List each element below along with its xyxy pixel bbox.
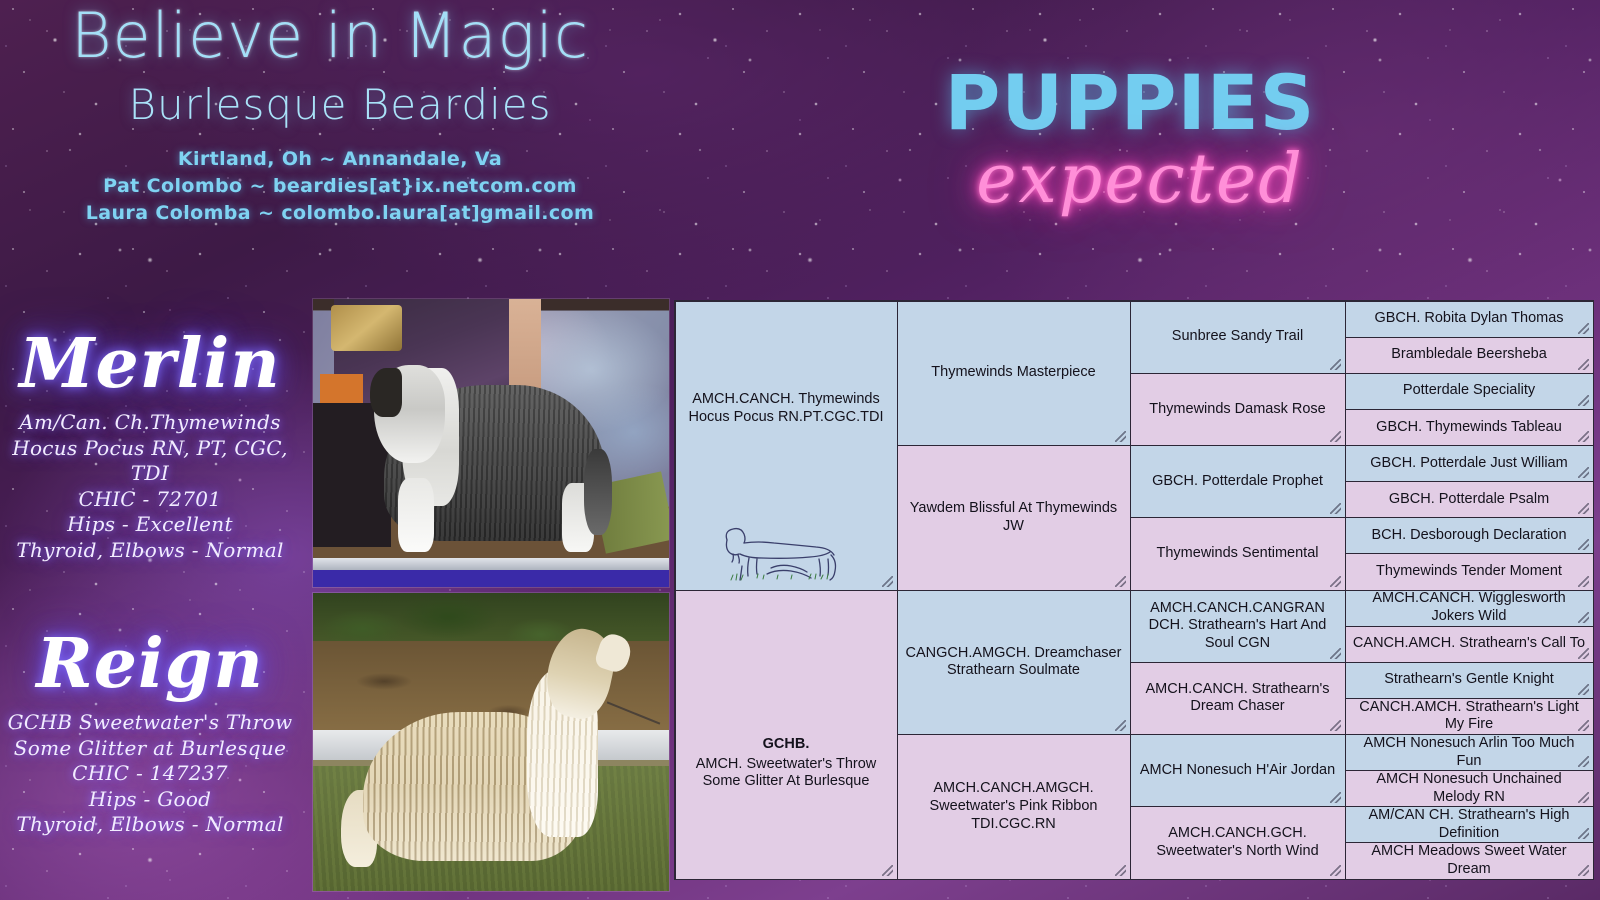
kennel-title: Believe in Magic xyxy=(0,4,660,68)
contact-laura-colomba[interactable]: Laura Colomba ~ colombo.laura[at]gmail.c… xyxy=(0,202,680,224)
show-table-edge xyxy=(313,558,669,570)
pedigree-cell[interactable]: AMCH.CANCH.CANGRAN DCH. Strathearn's Har… xyxy=(1130,590,1346,663)
pedigree-cell[interactable]: Brambledale Beersheba xyxy=(1345,337,1594,374)
pedigree-cell[interactable]: Thymewinds Tender Moment xyxy=(1345,553,1594,590)
pedigree-cell-text: GBCH. Robita Dylan Thomas xyxy=(1353,310,1586,328)
pedigree-generation-4: GBCH. Robita Dylan Thomas Brambledale Be… xyxy=(1345,301,1593,879)
dog-info-line: TDI xyxy=(0,461,300,487)
pedigree-cell-text: GBCH. Potterdale Prophet xyxy=(1138,473,1338,491)
pedigree-cell[interactable]: CANCH.AMCH. Strathearn's Light My Fire xyxy=(1345,698,1594,735)
contact-location: Kirtland, Oh ~ Annandale, Va xyxy=(0,148,680,170)
dog-info-line: Thyroid, Elbows - Normal xyxy=(0,538,300,564)
poster-canvas: Believe in Magic Burlesque Beardies Kirt… xyxy=(0,0,1600,900)
pedigree-cell[interactable]: GBCH. Thymewinds Tableau xyxy=(1345,409,1594,446)
pedigree-generation-2: Thymewinds Masterpiece Yawdem Blissful A… xyxy=(897,301,1130,879)
pedigree-cell-text: AMCH Nonesuch Unchained Melody RN xyxy=(1353,771,1586,806)
pedigree-cell-text: CANGCH.AMGCH. Dreamchaser Strathearn Sou… xyxy=(905,645,1123,680)
pedigree-cell[interactable]: AMCH.CANCH. Strathearn's Dream Chaser xyxy=(1130,662,1346,735)
pedigree-cell-dam[interactable]: GCHB. AMCH. Sweetwater's Throw Some Glit… xyxy=(675,590,898,880)
rosette-decoration xyxy=(331,305,402,351)
pedigree-cell-text: AM/CAN CH. Strathearn's High Definition xyxy=(1353,807,1586,842)
pedigree-cell-text: Potterdale Speciality xyxy=(1353,382,1586,400)
pedigree-cell[interactable]: AMCH.CANCH.GCH. Sweetwater's North Wind xyxy=(1130,806,1346,879)
pedigree-cell[interactable]: CANCH.AMCH. Strathearn's Call To xyxy=(1345,626,1594,663)
pedigree-cell-text: AMCH.CANCH.GCH. Sweetwater's North Wind xyxy=(1138,825,1338,860)
pedigree-cell[interactable]: GBCH. Potterdale Just William xyxy=(1345,445,1594,482)
dog-info-line: CHIC - 72701 xyxy=(0,487,300,513)
dog-name-merlin: Merlin xyxy=(0,330,300,398)
pedigree-cell[interactable]: Thymewinds Damask Rose xyxy=(1130,373,1346,446)
dog-panel-reign: Reign GCHB Sweetwater's Throw Some Glitt… xyxy=(0,630,300,838)
pedigree-cell-text: GBCH. Potterdale Just William xyxy=(1353,455,1586,473)
pedigree-cell-text: AMCH.CANCH. Thymewinds Hocus Pocus RN.PT… xyxy=(683,391,890,426)
pedigree-generation-3: Sunbree Sandy Trail Thymewinds Damask Ro… xyxy=(1130,301,1345,879)
pedigree-cell[interactable]: AMCH Nonesuch H'Air Jordan xyxy=(1130,734,1346,807)
pedigree-cell-name: AMCH. Sweetwater's Throw Some Glitter At… xyxy=(696,756,877,790)
pedigree-cell-text: AMCH.CANCH. Strathearn's Dream Chaser xyxy=(1138,681,1338,716)
pedigree-cell[interactable]: Thymewinds Masterpiece xyxy=(897,301,1131,447)
merlin-tail xyxy=(584,449,612,535)
photo-merlin xyxy=(312,298,670,588)
dog-info-line: Hips - Excellent xyxy=(0,512,300,538)
dog-info-line: Am/Can. Ch.Thymewinds xyxy=(0,410,300,436)
puppies-headline: PUPPIES xyxy=(900,58,1360,147)
pedigree-cell-text: AMCH Nonesuch H'Air Jordan xyxy=(1138,762,1338,780)
bearded-collie-line-icon xyxy=(711,522,861,588)
expected-script: expected xyxy=(930,140,1350,219)
pedigree-generation-1: AMCH.CANCH. Thymewinds Hocus Pocus RN.PT… xyxy=(675,301,897,879)
pedigree-cell[interactable]: Thymewinds Sentimental xyxy=(1130,517,1346,590)
burlesque-beardies-logo: BURLESQUE BEARDIES Type | Temperament | … xyxy=(706,522,866,591)
dog-info-line: Thyroid, Elbows - Normal xyxy=(0,812,300,838)
dog-info-reign: GCHB Sweetwater's Throw Some Glitter at … xyxy=(0,710,300,838)
pedigree-cell-text: Thymewinds Masterpiece xyxy=(905,364,1123,382)
pedigree-cell[interactable]: AMCH.CANCH. Wigglesworth Jokers Wild xyxy=(1345,590,1594,627)
pedigree-cell-text: Thymewinds Sentimental xyxy=(1138,545,1338,563)
pedigree-cell-text: AMCH Meadows Sweet Water Dream xyxy=(1353,843,1586,878)
pedigree-cell-text: Thymewinds Damask Rose xyxy=(1138,401,1338,419)
pedigree-cell-sire[interactable]: AMCH.CANCH. Thymewinds Hocus Pocus RN.PT… xyxy=(675,301,898,591)
pedigree-cell[interactable]: Sunbree Sandy Trail xyxy=(1130,301,1346,374)
pedigree-cell-text: CANCH.AMCH. Strathearn's Light My Fire xyxy=(1353,699,1586,734)
pedigree-cell[interactable]: Potterdale Speciality xyxy=(1345,373,1594,410)
pedigree-cell[interactable]: AM/CAN CH. Strathearn's High Definition xyxy=(1345,806,1594,843)
pedigree-cell-text: GBCH. Potterdale Psalm xyxy=(1353,491,1586,509)
pedigree-cell-text: Yawdem Blissful At Thymewinds JW xyxy=(905,500,1123,535)
dog-info-line: Some Glitter at Burlesque xyxy=(0,736,300,762)
photo-reign xyxy=(312,592,670,892)
pedigree-cell[interactable]: GBCH. Robita Dylan Thomas xyxy=(1345,301,1594,338)
pedigree-cell[interactable]: GBCH. Potterdale Prophet xyxy=(1130,445,1346,518)
dog-name-reign: Reign xyxy=(0,630,300,698)
pedigree-cell-text: AMCH.CANCH. Wigglesworth Jokers Wild xyxy=(1353,590,1586,625)
pedigree-cell-text: Brambledale Beersheba xyxy=(1353,346,1586,364)
pedigree-cell-clipped-text: AMCH.CANCH. xyxy=(1346,662,1593,663)
pedigree-chart: AMCH.CANCH. Thymewinds Hocus Pocus RN.PT… xyxy=(674,300,1594,880)
pedigree-cell-text: GBCH. Thymewinds Tableau xyxy=(1353,419,1586,437)
pedigree-cell-text: BCH. Desborough Declaration xyxy=(1353,527,1586,545)
pedigree-cell[interactable]: AMCH Nonesuch Unchained Melody RN xyxy=(1345,770,1594,807)
pedigree-cell-text: Sunbree Sandy Trail xyxy=(1138,328,1338,346)
dog-panel-merlin: Merlin Am/Can. Ch.Thymewinds Hocus Pocus… xyxy=(0,330,300,564)
pedigree-cell[interactable]: GBCH. Potterdale Psalm xyxy=(1345,481,1594,518)
dog-info-merlin: Am/Can. Ch.Thymewinds Hocus Pocus RN, PT… xyxy=(0,410,300,564)
ring-barrier xyxy=(320,374,363,403)
pedigree-cell-text: AMCH.CANCH.AMGCH. Sweetwater's Pink Ribb… xyxy=(905,780,1123,833)
pedigree-cell[interactable]: CANGCH.AMGCH. Dreamchaser Strathearn Sou… xyxy=(897,590,1131,736)
contact-pat-colombo[interactable]: Pat Colombo ~ beardies[at}ix.netcom.com xyxy=(0,175,680,197)
pedigree-cell[interactable]: Yawdem Blissful At Thymewinds JW xyxy=(897,445,1131,591)
pedigree-cell-text: Thymewinds Tender Moment xyxy=(1353,563,1586,581)
kennel-subtitle: Burlesque Beardies xyxy=(0,82,680,128)
merlin-face xyxy=(370,368,402,417)
pedigree-cell-text: Strathearn's Gentle Knight xyxy=(1353,671,1586,689)
pedigree-cell[interactable]: AMCH Nonesuch Arlin Too Much Fun xyxy=(1345,734,1594,771)
pedigree-cell[interactable]: AMCH Meadows Sweet Water Dream xyxy=(1345,842,1594,879)
dog-info-line: Hips - Good xyxy=(0,787,300,813)
pedigree-cell[interactable]: AMCH.CANCH.AMGCH. Sweetwater's Pink Ribb… xyxy=(897,734,1131,880)
pedigree-cell-text: AMCH.CANCH.CANGRAN DCH. Strathearn's Har… xyxy=(1138,600,1338,653)
dog-info-line: CHIC - 147237 xyxy=(0,761,300,787)
pedigree-cell[interactable]: BCH. Desborough Declaration xyxy=(1345,517,1594,554)
pedigree-cell-text: AMCH Nonesuch Arlin Too Much Fun xyxy=(1353,735,1586,770)
pedigree-cell-text: GCHB. AMCH. Sweetwater's Throw Some Glit… xyxy=(683,736,890,791)
dog-info-line: Hocus Pocus RN, PT, CGC, xyxy=(0,436,300,462)
pedigree-cell-text: CANCH.AMCH. Strathearn's Call To xyxy=(1353,635,1586,653)
pedigree-cell[interactable]: AMCH.CANCH. Strathearn's Gentle Knight xyxy=(1345,662,1594,699)
dog-info-line: GCHB Sweetwater's Throw xyxy=(0,710,300,736)
pedigree-cell-title: GCHB. xyxy=(683,736,890,754)
merlin-front-leg xyxy=(398,478,434,553)
